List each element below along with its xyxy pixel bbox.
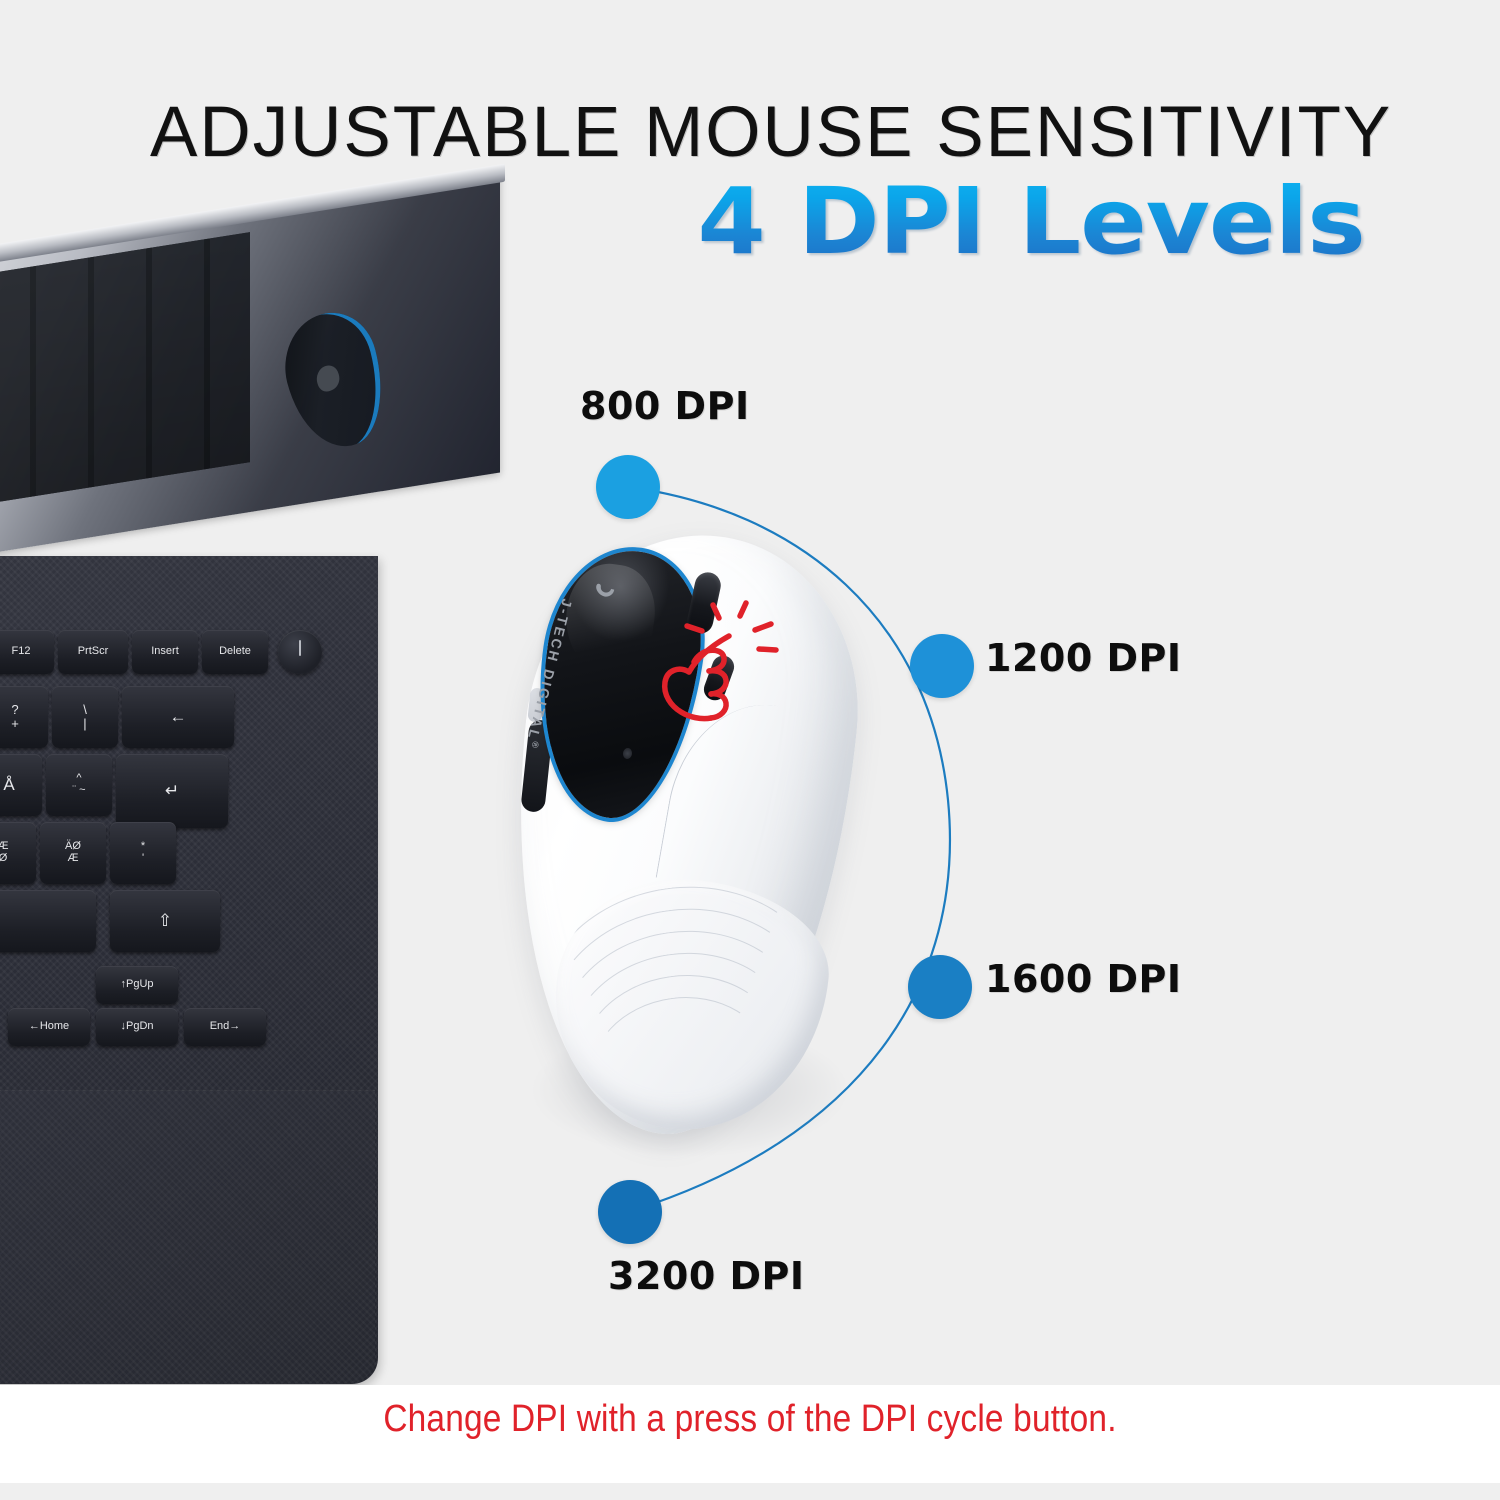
brand-label: J-TECH DIGITAL® xyxy=(522,597,576,751)
footer-caption: Change DPI with a press of the DPI cycle… xyxy=(90,1398,1410,1441)
key-backslash-pipe[interactable]: \ | xyxy=(52,686,118,748)
screen-reflection xyxy=(0,172,500,558)
power-button[interactable] xyxy=(278,630,322,674)
dpi-node-800[interactable] xyxy=(596,455,660,519)
dpi-node-3200[interactable] xyxy=(598,1180,662,1244)
dpi-label-3200: 3200 DPI xyxy=(608,1254,805,1298)
key-delete[interactable]: Delete xyxy=(202,630,268,674)
key-f12[interactable]: F12 xyxy=(0,630,54,674)
laptop-screen xyxy=(0,172,500,558)
key-prtscr[interactable]: PrtScr xyxy=(58,630,128,674)
key-shift[interactable]: ⇧ xyxy=(110,890,220,952)
page-title: ADJUSTABLE MOUSE SENSITIVITY xyxy=(150,92,1380,173)
key-caret-diaeresis-tilde[interactable]: ^ ¨ ~ xyxy=(46,754,112,816)
brand-text: J-TECH DIGITAL xyxy=(525,597,576,742)
key-home[interactable]: ←Home xyxy=(8,1008,90,1046)
key-ae-oslash[interactable]: Æ Ø xyxy=(0,822,36,884)
key-pgup[interactable]: ↑PgUp xyxy=(96,966,178,1004)
key-backspace[interactable]: ← xyxy=(122,686,234,748)
key-pgdn[interactable]: ↓PgDn xyxy=(96,1008,178,1046)
page-subtitle: 4 DPI Levels xyxy=(698,168,1365,275)
key-aring[interactable]: Å xyxy=(0,754,42,816)
reflected-mouse xyxy=(274,298,395,464)
key-adiaeresis-oslash[interactable]: ÄØ Æ xyxy=(40,822,106,884)
dpi-label-1600: 1600 DPI xyxy=(985,957,1182,1001)
dpi-node-1600[interactable] xyxy=(908,955,972,1019)
dpi-label-800: 800 DPI xyxy=(580,384,750,428)
key-end[interactable]: End→ xyxy=(184,1008,266,1046)
tap-pointer-hand-icon xyxy=(645,600,815,760)
key-question-plus[interactable]: ? + xyxy=(0,686,48,748)
key-insert[interactable]: Insert xyxy=(132,630,198,674)
dpi-node-1200[interactable] xyxy=(910,634,974,698)
vertical-mouse-product: J-TECH DIGITAL® xyxy=(495,520,895,1180)
laptop-palmrest xyxy=(0,1090,375,1383)
infographic-canvas: F12 PrtScr Insert Delete ? + \ | ← Å ^ ¨… xyxy=(0,0,1500,1500)
dpi-label-1200: 1200 DPI xyxy=(985,636,1182,680)
key-enter[interactable]: ↵ xyxy=(116,754,228,828)
key-asterisk-apostrophe[interactable]: * ' xyxy=(110,822,176,884)
key-blank-left[interactable] xyxy=(0,890,96,952)
reflected-keyboard xyxy=(0,232,250,514)
